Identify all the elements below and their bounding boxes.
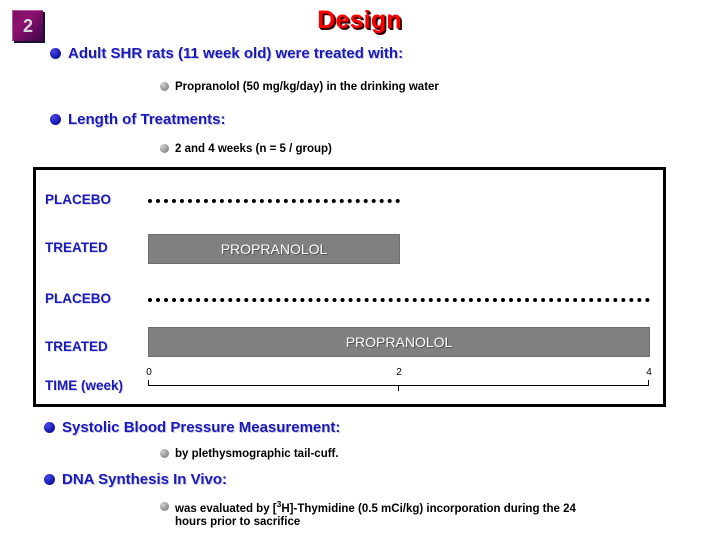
bullet-label: Adult SHR rats (11 week old) were treate…	[68, 45, 403, 62]
placebo-timeline-4wk	[148, 298, 650, 302]
bullet-label: Length of Treatments:	[68, 111, 226, 128]
bullet-label: DNA Synthesis In Vivo:	[62, 471, 227, 488]
timeline-tick-label-4: 4	[639, 367, 659, 378]
bullet-dot-icon	[44, 422, 55, 433]
bullet-tail-cuff-method: by plethysmographic tail-cuff.	[160, 448, 339, 461]
sub-bullet-dot-icon	[160, 449, 169, 458]
sub-bullet-label: 2 and 4 weeks (n = 5 / group)	[175, 143, 332, 155]
sub-bullet-label: by plethysmographic tail-cuff.	[175, 448, 339, 460]
timeline-tick-label-2: 2	[389, 367, 409, 378]
sub-bullet-dot-icon	[160, 82, 169, 91]
bullet-dot-icon	[50, 114, 61, 125]
bullet-weeks-n-per-group: 2 and 4 weeks (n = 5 / group)	[160, 143, 332, 156]
treatment-bar-2wk: PROPRANOLOL	[148, 234, 400, 264]
timeline-tick-2	[398, 385, 399, 391]
diagram-axis-label: TIME (week)	[45, 378, 123, 393]
bullet-dot-icon	[44, 474, 55, 485]
sub-bullet-dot-icon	[160, 144, 169, 153]
diagram-row-label-treated-2wk: TREATED	[45, 240, 108, 255]
placebo-timeline-2wk	[148, 199, 400, 203]
diagram-row-label-placebo-2wk: PLACEBO	[45, 192, 111, 207]
bullet-adult-shr-rats: Adult SHR rats (11 week old) were treate…	[50, 45, 403, 62]
bullet-length-of-treatments: Length of Treatments:	[50, 111, 226, 128]
sub-bullet-label: was evaluated by [3H]-Thymidine (0.5 mCi…	[175, 498, 600, 529]
diagram-row-label-placebo-4wk: PLACEBO	[45, 291, 111, 306]
bullet-dna-synthesis-in-vivo: DNA Synthesis In Vivo:	[44, 471, 227, 488]
bullet-label: Systolic Blood Pressure Measurement:	[62, 419, 340, 436]
timeline-tick-0	[148, 380, 149, 386]
sub-bullet-label: Propranolol (50 mg/kg/day) in the drinki…	[175, 81, 439, 93]
study-design-diagram: PLACEBO TREATED PLACEBO TREATED TIME (we…	[33, 167, 666, 407]
treatment-bar-4wk: PROPRANOLOL	[148, 327, 650, 357]
thymidine-prefix: was evaluated by [	[175, 503, 277, 515]
bullet-thymidine-method: was evaluated by [3H]-Thymidine (0.5 mCi…	[160, 498, 600, 529]
bullet-systolic-blood-pressure: Systolic Blood Pressure Measurement:	[44, 419, 340, 436]
sub-bullet-dot-icon	[160, 502, 169, 511]
page-title: Design	[0, 6, 719, 35]
bullet-propranolol-dose: Propranolol (50 mg/kg/day) in the drinki…	[160, 81, 439, 94]
diagram-row-label-treated-4wk: TREATED	[45, 339, 108, 354]
bullet-dot-icon	[50, 48, 61, 59]
timeline-tick-4	[648, 380, 649, 386]
timeline-tick-label-0: 0	[139, 367, 159, 378]
slide-canvas: 2 Design Adult SHR rats (11 week old) we…	[0, 0, 719, 539]
